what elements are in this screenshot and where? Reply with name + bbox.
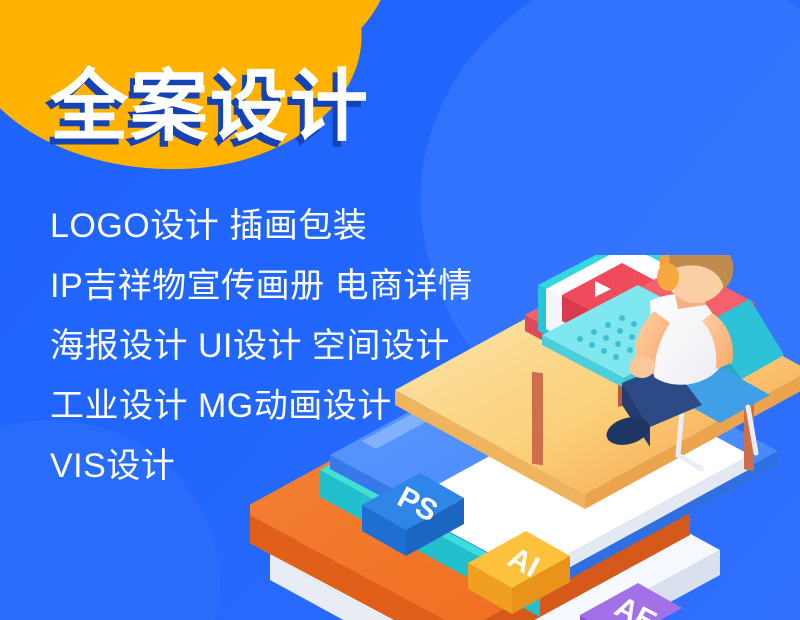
isometric-illustration: PS AI AE — [250, 255, 800, 620]
poster-canvas: 全案设计 LOGO设计 插画包装 IP吉祥物宣传画册 电商详情 海报设计 UI设… — [0, 0, 800, 620]
page-title: 全案设计 — [50, 60, 370, 152]
service-list-item: LOGO设计 插画包装 — [50, 196, 473, 256]
